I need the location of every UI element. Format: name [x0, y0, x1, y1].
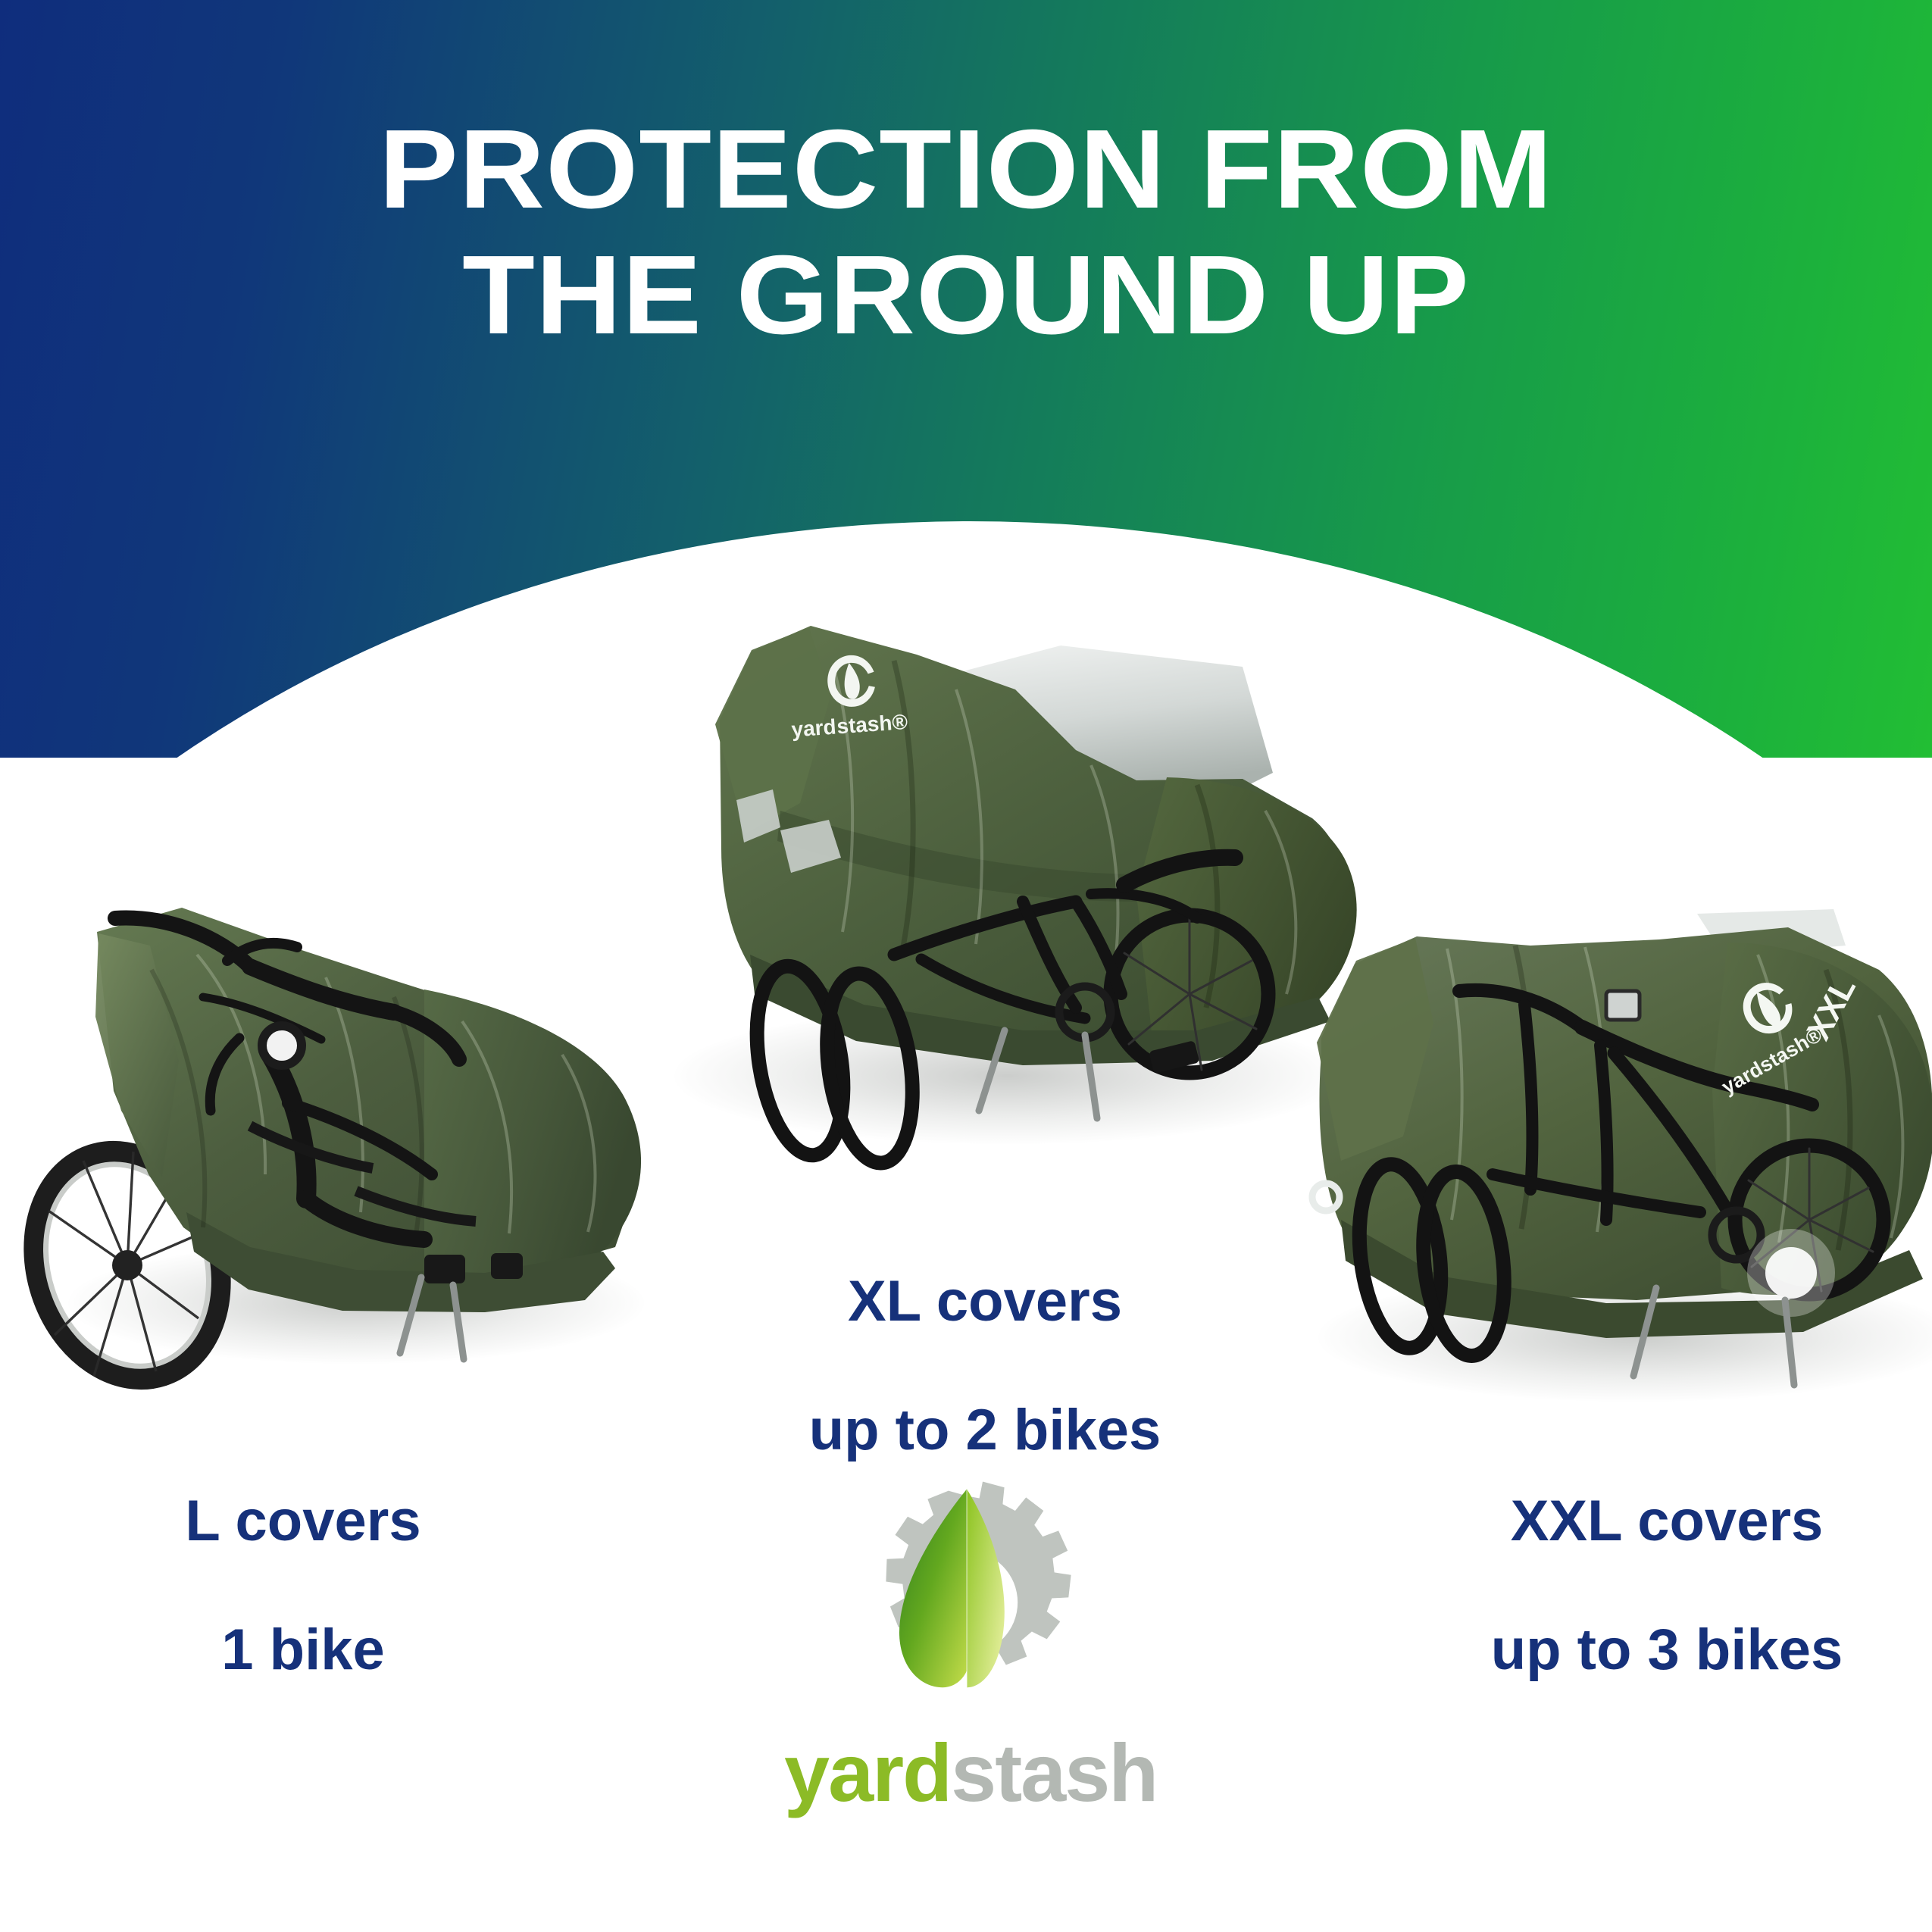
bike-reflector — [262, 1026, 302, 1065]
caption-l-line-1: L covers — [91, 1489, 515, 1553]
bike-headlight-glow — [1747, 1229, 1835, 1317]
headline-line-2: THE GROUND UP — [0, 239, 1932, 352]
promo-graphic: PROTECTION FROM THE GROUND UP — [0, 0, 1932, 1932]
caption-l-line-2: 1 bike — [91, 1618, 515, 1682]
caption-xxl-line-2: up to 3 bikes — [1409, 1618, 1924, 1682]
cover-brand-text: yard — [790, 714, 836, 741]
caption-xxl-line-1: XXL covers — [1409, 1489, 1924, 1553]
brand-logo: yardstash — [784, 1477, 1148, 1814]
headline-line-1: PROTECTION FROM — [0, 114, 1932, 226]
caption-xl-line-1: XL covers — [727, 1269, 1243, 1333]
cover-brand-text-2: stash® — [836, 710, 908, 738]
strap-buckle — [424, 1255, 465, 1283]
caption-xxl: XXL covers up to 3 bikes — [1409, 1424, 1924, 1747]
strap-buckle — [491, 1253, 523, 1279]
product-photo-xxl: yardstash® XXL — [1303, 864, 1932, 1440]
xl-cover-illustration: yard stash® — [667, 576, 1394, 1174]
product-photo-xl: yard stash® — [667, 576, 1394, 1174]
bike-stem — [1606, 991, 1640, 1020]
l-cover-illustration — [0, 818, 667, 1409]
brand-word-stash: stash — [951, 1727, 1157, 1818]
caption-xl-line-2: up to 2 bikes — [727, 1398, 1243, 1462]
brand-word-yard: yard — [784, 1727, 951, 1818]
page-title: PROTECTION FROM THE GROUND UP — [0, 114, 1932, 352]
xxl-cover-illustration: yardstash® XXL — [1303, 864, 1932, 1440]
brand-wordmark: yardstash — [784, 1732, 1148, 1814]
gear-leaf-logo-icon — [841, 1477, 1091, 1727]
product-photo-l — [0, 818, 667, 1409]
caption-l: L covers 1 bike — [91, 1424, 515, 1747]
